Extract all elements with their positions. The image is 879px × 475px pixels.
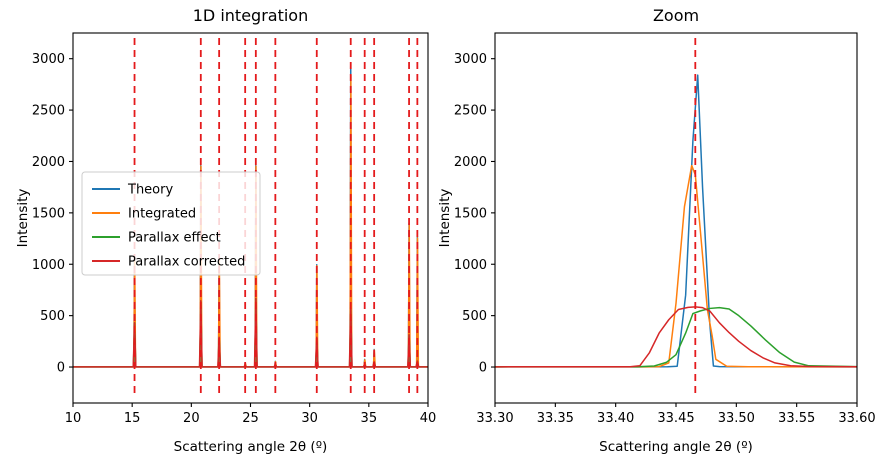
series-line-parallax-corrected <box>495 307 857 367</box>
y-tick-label-2: 1000 <box>454 258 487 273</box>
series-group <box>495 75 857 367</box>
series-line-parallax-effect <box>495 308 857 367</box>
y-tick-label-0: 0 <box>57 361 65 376</box>
x-tick-label-6: 40 <box>420 411 437 426</box>
legend-label-1: Integrated <box>128 207 196 222</box>
y-tick-label-1: 500 <box>40 309 65 324</box>
y-tick-label-4: 2000 <box>454 155 487 170</box>
y-axis-label-left: Intensity <box>15 189 31 248</box>
y-tick-label-2: 1000 <box>32 258 65 273</box>
plot-area: 101520253035400500100015002000250030001D… <box>0 0 879 475</box>
y-tick-label-0: 0 <box>479 361 487 376</box>
legend-label-2: Parallax effect <box>128 231 221 246</box>
y-tick-label-4: 2000 <box>32 155 65 170</box>
series-line-theory <box>495 75 857 367</box>
y-tick-label-5: 2500 <box>32 104 65 119</box>
x-tick-label-0: 33.30 <box>476 411 513 426</box>
panel-right: 33.3033.3533.4033.4533.5033.5533.6005001… <box>437 6 876 455</box>
x-tick-label-3: 25 <box>242 411 259 426</box>
x-tick-label-2: 20 <box>183 411 200 426</box>
x-tick-label-4: 33.50 <box>718 411 755 426</box>
y-tick-label-3: 1500 <box>454 206 487 221</box>
series-line-integrated <box>495 166 857 367</box>
y-axis-label-right: Intensity <box>437 189 453 248</box>
x-axis-label-right: Scattering angle 2θ (º) <box>599 439 753 455</box>
x-axis-label-left: Scattering angle 2θ (º) <box>174 439 328 455</box>
x-tick-label-4: 30 <box>301 411 318 426</box>
y-tick-label-6: 3000 <box>32 52 65 67</box>
panel-title-right: Zoom <box>653 6 699 25</box>
figure-canvas: 101520253035400500100015002000250030001D… <box>0 0 879 475</box>
legend-label-0: Theory <box>127 183 173 198</box>
x-tick-label-3: 33.45 <box>657 411 694 426</box>
x-tick-label-5: 35 <box>361 411 378 426</box>
legend-label-3: Parallax corrected <box>128 255 245 270</box>
x-tick-label-0: 10 <box>65 411 82 426</box>
y-tick-label-6: 3000 <box>454 52 487 67</box>
y-tick-label-3: 1500 <box>32 206 65 221</box>
x-tick-label-6: 33.60 <box>838 411 875 426</box>
panel-title-left: 1D integration <box>193 6 308 25</box>
legend: TheoryIntegratedParallax effectParallax … <box>82 172 260 275</box>
axes-frame-right <box>495 33 857 403</box>
x-tick-label-1: 33.35 <box>537 411 574 426</box>
x-tick-label-2: 33.40 <box>597 411 634 426</box>
x-tick-label-5: 33.55 <box>778 411 815 426</box>
y-tick-label-5: 2500 <box>454 104 487 119</box>
x-tick-label-1: 15 <box>124 411 141 426</box>
y-tick-label-1: 500 <box>462 309 487 324</box>
